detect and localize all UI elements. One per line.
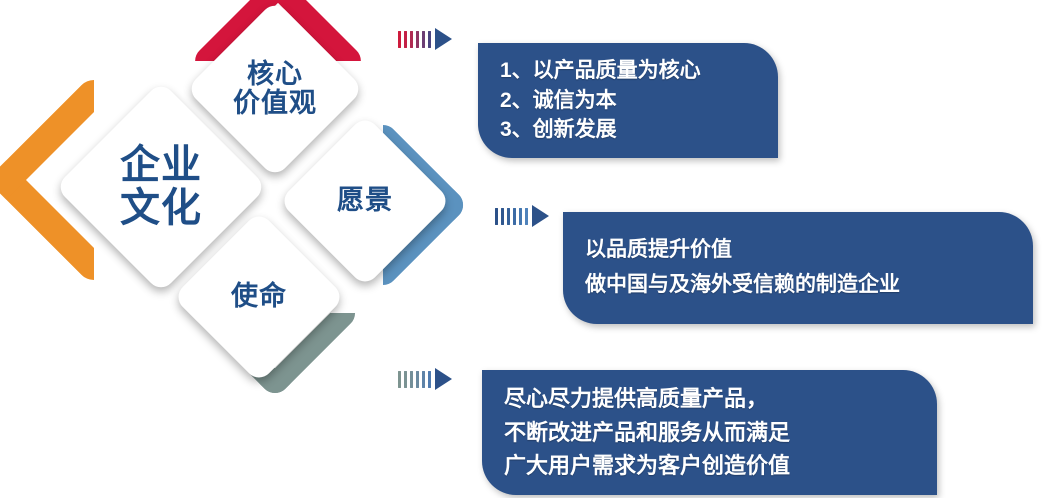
arrow-bar xyxy=(428,371,431,388)
arrow-bar xyxy=(404,371,407,388)
info-line: 2、诚信为本 xyxy=(500,86,778,116)
arrow-vision xyxy=(495,205,549,227)
arrow-bar xyxy=(410,371,413,388)
arrow-bar xyxy=(495,208,498,225)
arrow-bar xyxy=(513,208,516,225)
info-line: 尽心尽力提供高质量产品， xyxy=(504,382,937,415)
arrow-bar xyxy=(525,208,528,225)
arrow-bars xyxy=(398,371,434,388)
arrow-bar xyxy=(501,208,504,225)
infographic-canvas: 企业 文化 核心 价值观 愿景 使命 1、以产品质量为核心 2、诚信为本 3、创… xyxy=(0,0,1042,498)
arrow-bar xyxy=(519,208,522,225)
info-line: 3、创新发展 xyxy=(500,115,778,145)
info-line: 做中国与及海外受信赖的制造企业 xyxy=(585,268,1033,303)
arrow-bar xyxy=(416,371,419,388)
info-line: 以品质提升价值 xyxy=(585,233,1033,268)
info-box-mission[interactable]: 尽心尽力提供高质量产品， 不断改进产品和服务从而满足 广大用户需求为客户创造价值 xyxy=(482,370,937,495)
info-line: 广大用户需求为客户创造价值 xyxy=(504,449,937,482)
arrow-triangle-icon xyxy=(435,28,452,50)
arrow-bar xyxy=(410,31,413,48)
arrow-bar xyxy=(428,31,431,48)
info-line: 1、以产品质量为核心 xyxy=(500,56,778,86)
arrow-core-values xyxy=(398,28,452,50)
arrow-triangle-icon xyxy=(435,368,452,390)
arrow-bar xyxy=(398,31,401,48)
arrow-bar xyxy=(422,371,425,388)
info-box-vision[interactable]: 以品质提升价值 做中国与及海外受信赖的制造企业 xyxy=(563,212,1033,324)
info-box-core-values[interactable]: 1、以产品质量为核心 2、诚信为本 3、创新发展 xyxy=(478,43,778,158)
arrow-bar xyxy=(422,31,425,48)
arrow-bar xyxy=(507,208,510,225)
arrow-mission xyxy=(398,368,452,390)
arrow-triangle-icon xyxy=(532,205,549,227)
arrow-bar xyxy=(404,31,407,48)
arrow-bar xyxy=(398,371,401,388)
arrow-bars xyxy=(398,31,434,48)
info-line: 不断改进产品和服务从而满足 xyxy=(504,416,937,449)
arrow-bars xyxy=(495,208,531,225)
arrow-bar xyxy=(416,31,419,48)
